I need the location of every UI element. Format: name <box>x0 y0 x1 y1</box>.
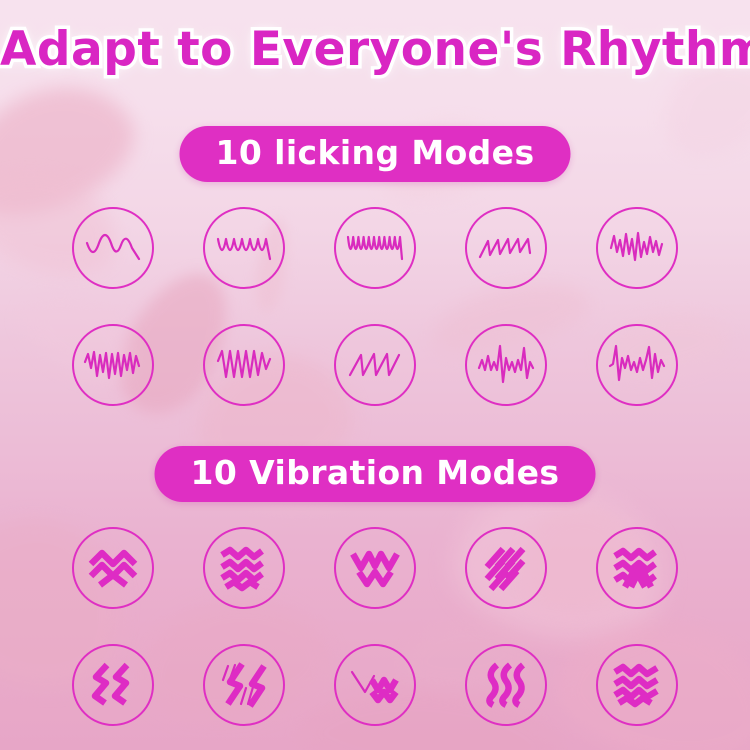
mode-waveform-jagged-irregular[interactable] <box>596 207 678 289</box>
mode-waveform-sawtooth-wide[interactable] <box>334 324 416 406</box>
waveform-pulse-burst-icon <box>477 344 535 386</box>
vibration-modes-grid <box>0 527 750 726</box>
waveform-pulse-mixed-icon <box>608 344 666 386</box>
mode-vibration-stacked-waves[interactable] <box>203 527 285 609</box>
section-badge-vibration: 10 Vibration Modes <box>155 446 596 502</box>
mode-vibration-stacked-chevrons[interactable] <box>72 527 154 609</box>
vibration-diagonal-dashes-icon <box>483 545 529 591</box>
mode-waveform-dense-spikes[interactable] <box>72 324 154 406</box>
mode-vibration-bolt-slashes[interactable] <box>203 644 285 726</box>
mode-waveform-sawtooth-rising[interactable] <box>465 207 547 289</box>
waveform-sine-slow-icon <box>84 231 142 265</box>
mode-vibration-diagonal-dashes[interactable] <box>465 527 547 609</box>
vibration-v-zigzag-icon <box>349 668 401 702</box>
mode-vibration-zigzag-over-waves[interactable] <box>596 527 678 609</box>
licking-modes-grid <box>0 207 750 406</box>
mode-waveform-sine-slow[interactable] <box>72 207 154 289</box>
vibration-w-chevron-icon <box>349 548 401 588</box>
mode-waveform-sine-medium[interactable] <box>203 207 285 289</box>
mode-vibration-v-zigzag[interactable] <box>334 644 416 726</box>
product-feature-poster: Adapt to Everyone's Rhythm 10 licking Mo… <box>0 0 750 750</box>
waveform-sine-medium-icon <box>215 231 273 265</box>
section-badge-licking: 10 licking Modes <box>179 126 570 182</box>
vibration-stacked-chevrons-icon <box>87 548 139 588</box>
waveform-sawtooth-wide-icon <box>347 349 403 381</box>
vibration-zigzag-over-waves-icon <box>611 547 663 589</box>
waveform-sawtooth-rising-icon <box>477 233 535 263</box>
mode-waveform-sharp-zigzag[interactable] <box>203 324 285 406</box>
vibration-stacked-waves-icon <box>218 547 270 589</box>
page-title: Adapt to Everyone's Rhythm <box>0 22 750 77</box>
vibration-wavy-lines-icon <box>611 665 663 705</box>
mode-vibration-wavy-lines[interactable] <box>596 644 678 726</box>
waveform-sharp-zigzag-icon <box>215 347 273 383</box>
mode-waveform-sine-fast[interactable] <box>334 207 416 289</box>
waveform-jagged-irregular-icon <box>608 230 666 266</box>
vibration-bolt-slashes-icon <box>220 662 268 708</box>
waveform-sine-fast-icon <box>346 231 404 265</box>
vibration-triple-squiggle-icon <box>484 662 528 708</box>
mode-waveform-pulse-mixed[interactable] <box>596 324 678 406</box>
mode-vibration-w-chevron[interactable] <box>334 527 416 609</box>
mode-vibration-triple-squiggle[interactable] <box>465 644 547 726</box>
vibration-double-bolt-icon <box>91 662 135 708</box>
waveform-dense-spikes-icon <box>83 348 143 382</box>
mode-waveform-pulse-burst[interactable] <box>465 324 547 406</box>
mode-vibration-double-bolt[interactable] <box>72 644 154 726</box>
